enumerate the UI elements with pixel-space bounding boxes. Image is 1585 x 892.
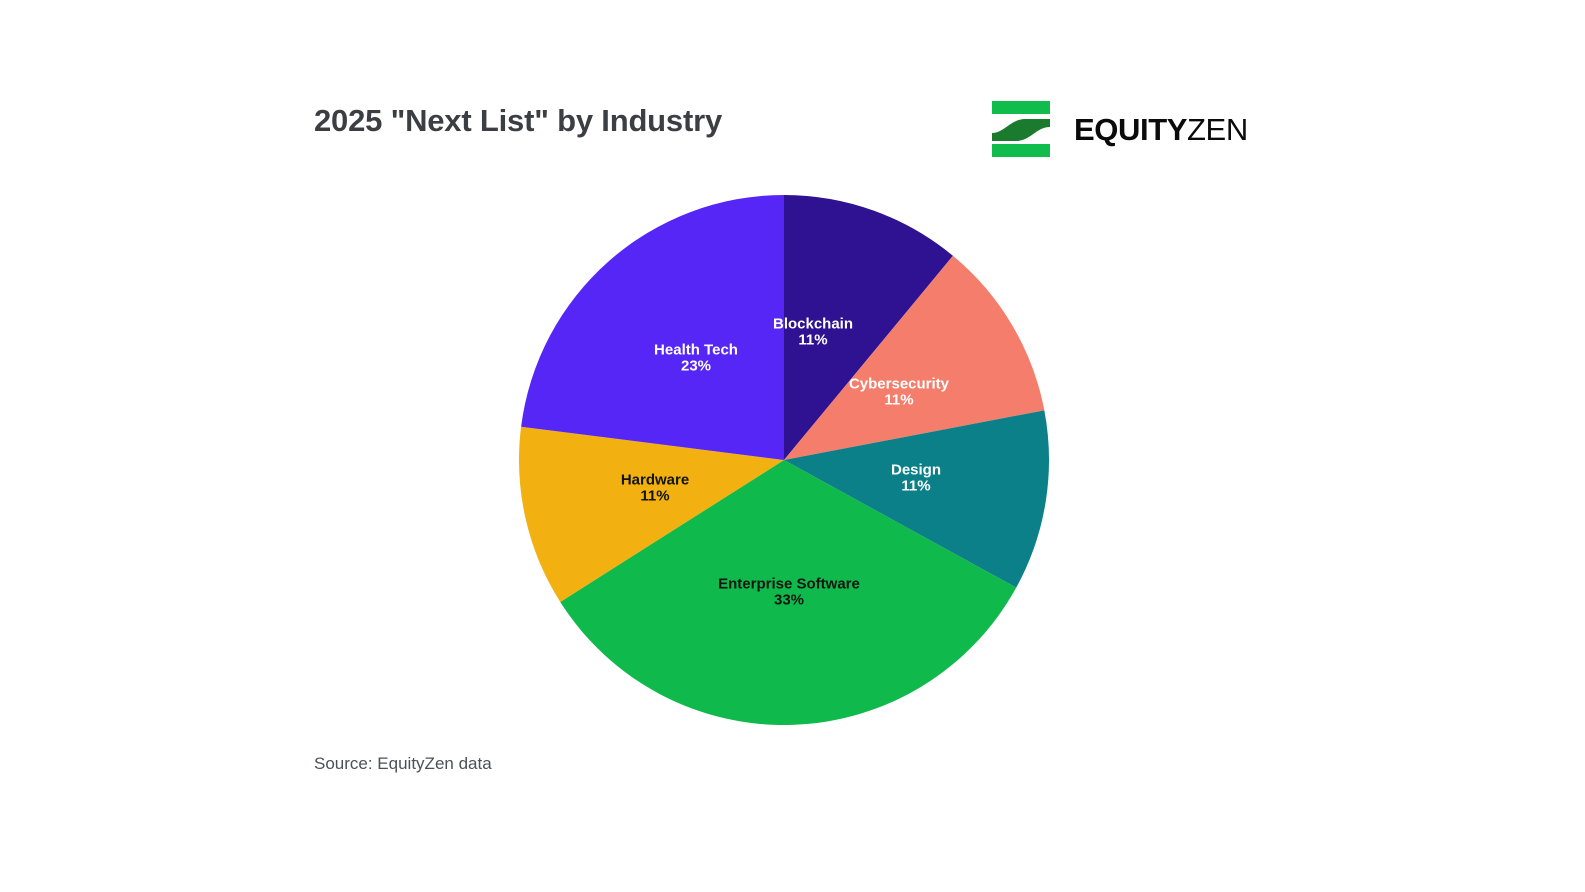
pie-chart: Blockchain11%Cybersecurity11%Design11%En… — [510, 186, 1058, 734]
logo-bar-bottom — [992, 144, 1050, 157]
brand-logo: EQUITYZEN — [990, 100, 1248, 158]
logo-word-zen: ZEN — [1187, 112, 1248, 147]
equityzen-z-mark-icon — [990, 100, 1052, 158]
logo-wordmark: EQUITYZEN — [1074, 114, 1248, 145]
logo-bar-top — [992, 101, 1050, 114]
source-note: Source: EquityZen data — [314, 754, 492, 774]
pie-slice-health-tech[interactable] — [521, 195, 784, 460]
page-title: 2025 "Next List" by Industry — [314, 103, 722, 139]
pie-chart-svg — [510, 186, 1058, 734]
chart-canvas: 2025 "Next List" by Industry EQUITYZEN B… — [0, 0, 1585, 892]
logo-word-equity: EQUITY — [1074, 112, 1187, 147]
logo-diagonal-stripe — [992, 119, 1050, 141]
